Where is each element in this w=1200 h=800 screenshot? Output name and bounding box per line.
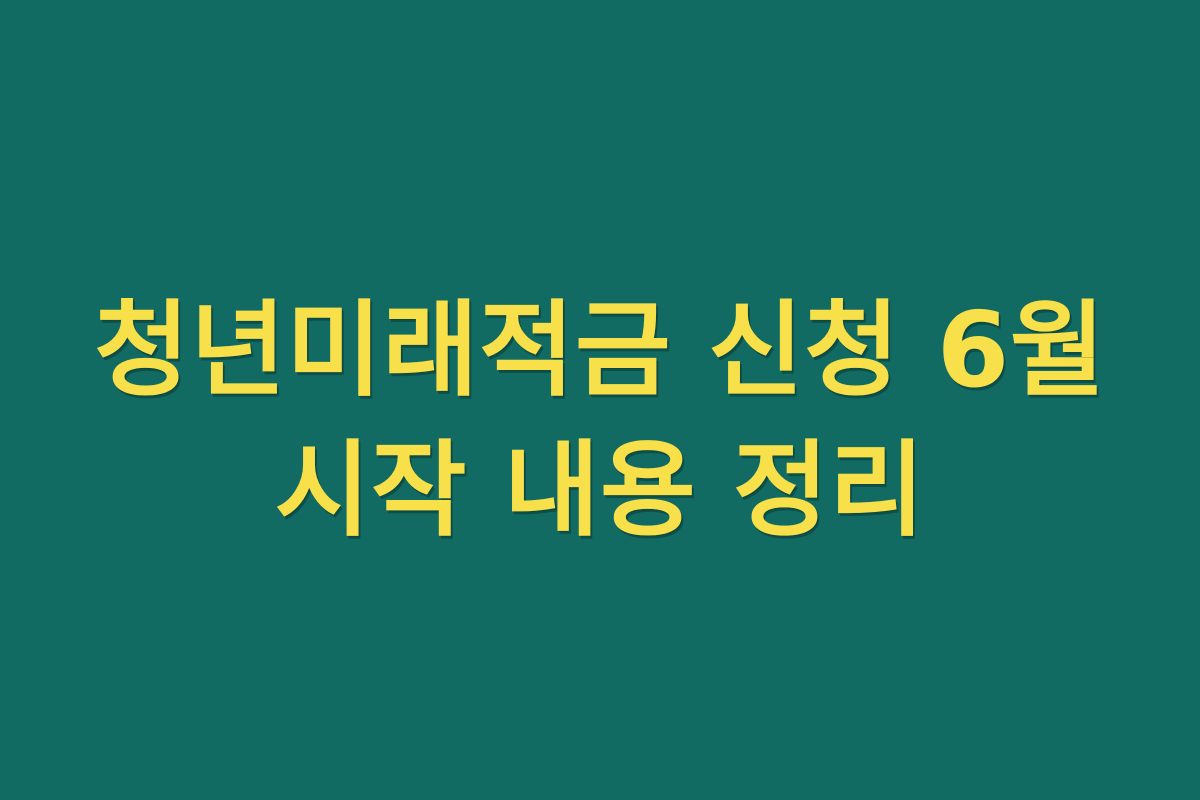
title-line-1: 청년미래적금 신청 6월: [0, 280, 1200, 420]
poster-canvas: 청년미래적금 신청 6월 시작 내용 정리: [0, 0, 1200, 800]
title-block: 청년미래적금 신청 6월 시작 내용 정리: [0, 280, 1200, 560]
title-line-2: 시작 내용 정리: [0, 420, 1200, 560]
